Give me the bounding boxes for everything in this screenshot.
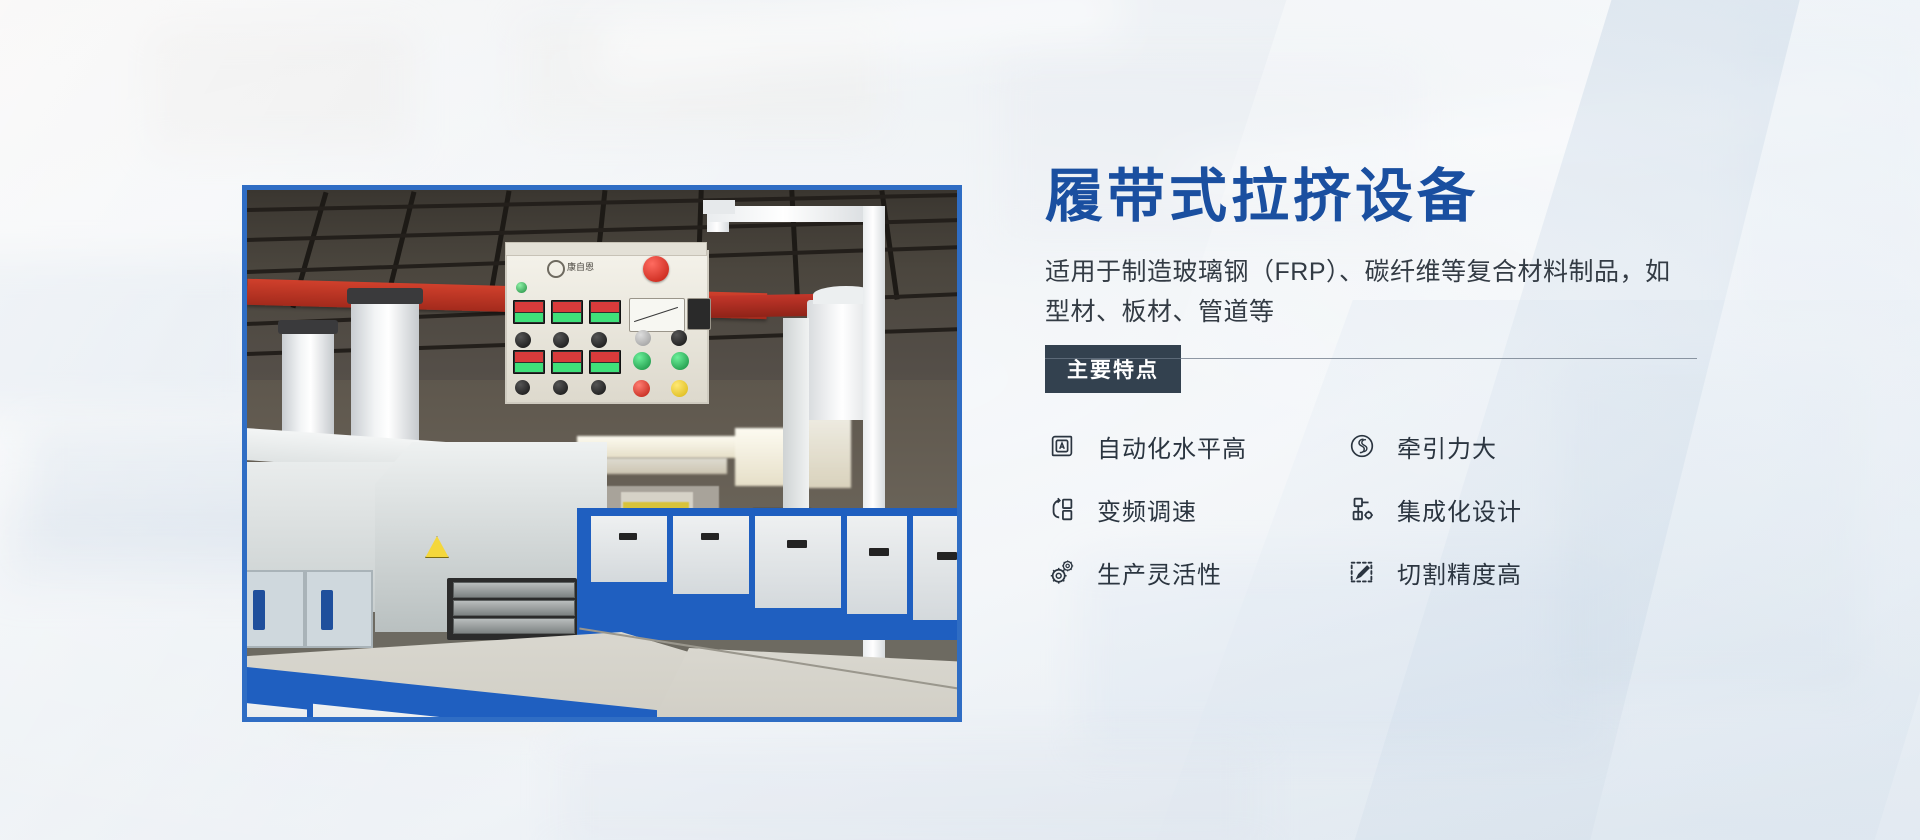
automation-icon: [1045, 429, 1079, 463]
banner-subtitle: 适用于制造玻璃钢（FRP）、碳纤维等复合材料制品，如型材、板材、管道等: [1045, 252, 1685, 333]
main-features-badge: 主要特点: [1045, 345, 1181, 393]
integration-icon: [1345, 492, 1379, 526]
feature-item-precision[interactable]: 切割精度高: [1345, 555, 1645, 590]
traction-icon: [1345, 429, 1379, 463]
feature-item-traction[interactable]: 牵引力大: [1345, 429, 1645, 464]
feature-row: 自动化水平高 牵引力大: [1045, 429, 1745, 464]
feature-item-integration[interactable]: 集成化设计: [1345, 492, 1645, 527]
gears-icon: [1045, 555, 1079, 589]
feature-label: 变频调速: [1097, 492, 1197, 527]
feature-label: 牵引力大: [1397, 429, 1497, 464]
feature-item-frequency[interactable]: 变频调速: [1045, 492, 1345, 527]
feature-label: 自动化水平高: [1097, 429, 1247, 464]
product-photo: 康自恩: [242, 185, 962, 722]
feature-item-automation[interactable]: 自动化水平高: [1045, 429, 1345, 464]
section-divider: [1045, 358, 1697, 359]
feature-list: 自动化水平高 牵引力大: [1045, 429, 1745, 590]
feature-label: 集成化设计: [1397, 492, 1522, 527]
frequency-icon: [1045, 492, 1079, 526]
banner-content: 履带式拉挤设备 适用于制造玻璃钢（FRP）、碳纤维等复合材料制品，如型材、板材、…: [1045, 165, 1805, 618]
feature-item-flexibility[interactable]: 生产灵活性: [1045, 555, 1345, 590]
feature-label: 生产灵活性: [1097, 555, 1222, 590]
feature-row: 生产灵活性 切割精度高: [1045, 555, 1745, 590]
product-banner: 康自恩: [0, 0, 1920, 840]
feature-label: 切割精度高: [1397, 555, 1522, 590]
precision-cut-icon: [1345, 555, 1379, 589]
feature-row: 变频调速 集成化设计: [1045, 492, 1745, 527]
page-title: 履带式拉挤设备: [1045, 165, 1805, 230]
